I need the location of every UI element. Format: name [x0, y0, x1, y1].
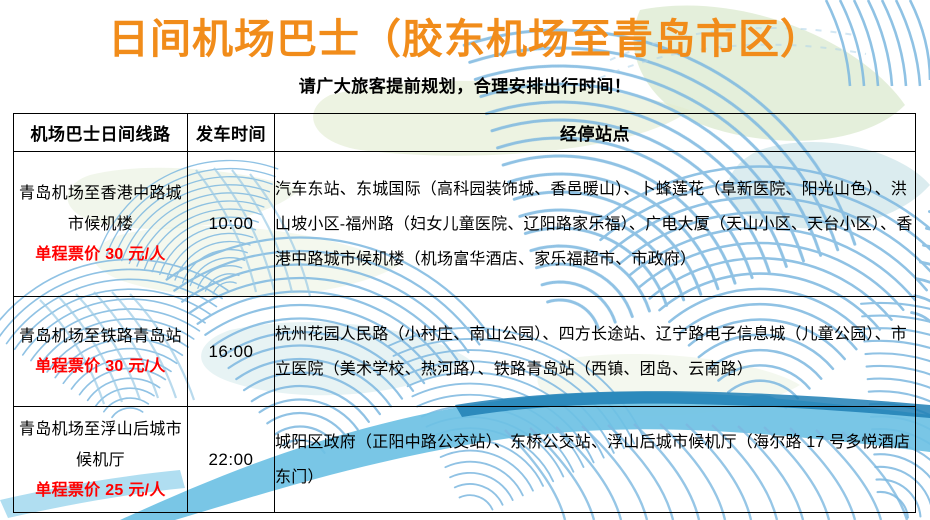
bus-schedule-table: 机场巴士日间线路 发车时间 经停站点 青岛机场至香港中路城市候机楼 单程票价 3…	[13, 113, 916, 513]
departure-time: 22:00	[188, 407, 275, 513]
page-title: 日间机场巴士（胶东机场至青岛市区）	[0, 0, 930, 65]
stops-list: 汽车东站、东城国际（高科园装饰城、香邑暖山）、卜蜂莲花（阜新医院、阳光山色）、洪…	[275, 152, 916, 297]
bus-schedule-table-container: 机场巴士日间线路 发车时间 经停站点 青岛机场至香港中路城市候机楼 单程票价 3…	[13, 113, 915, 513]
column-header-departure-time: 发车时间	[188, 114, 275, 152]
departure-time: 10:00	[188, 152, 275, 297]
page-subtitle: 请广大旅客提前规划，合理安排出行时间！	[0, 65, 930, 98]
table-header-row: 机场巴士日间线路 发车时间 经停站点	[14, 114, 916, 152]
route-price: 单程票价 30 元/人	[14, 240, 187, 270]
route-cell: 青岛机场至香港中路城市候机楼 单程票价 30 元/人	[14, 152, 188, 297]
route-name: 青岛机场至香港中路城市候机楼	[14, 178, 187, 240]
table-row: 青岛机场至香港中路城市候机楼 单程票价 30 元/人 10:00 汽车东站、东城…	[14, 152, 916, 297]
route-cell: 青岛机场至浮山后城市候机厅 单程票价 25 元/人	[14, 407, 188, 513]
poster-header: 日间机场巴士（胶东机场至青岛市区） 请广大旅客提前规划，合理安排出行时间！	[0, 0, 930, 98]
route-cell: 青岛机场至铁路青岛站 单程票价 30 元/人	[14, 297, 188, 407]
table-row: 青岛机场至浮山后城市候机厅 单程票价 25 元/人 22:00 城阳区政府（正阳…	[14, 407, 916, 513]
route-name: 青岛机场至铁路青岛站	[14, 321, 187, 352]
table-row: 青岛机场至铁路青岛站 单程票价 30 元/人 16:00 杭州花园人民路（小村庄…	[14, 297, 916, 407]
column-header-route: 机场巴士日间线路	[14, 114, 188, 152]
column-header-stops: 经停站点	[275, 114, 916, 152]
departure-time: 16:00	[188, 297, 275, 407]
stops-list: 城阳区政府（正阳中路公交站）、东桥公交站、浮山后城市候机厅（海尔路 17 号多悦…	[275, 407, 916, 513]
route-price: 单程票价 25 元/人	[14, 476, 187, 506]
route-price: 单程票价 30 元/人	[14, 352, 187, 382]
poster-page: 日间机场巴士（胶东机场至青岛市区） 请广大旅客提前规划，合理安排出行时间！ 机场…	[0, 0, 930, 520]
route-name: 青岛机场至浮山后城市候机厅	[14, 414, 187, 476]
stops-list: 杭州花园人民路（小村庄、南山公园）、四方长途站、辽宁路电子信息城（儿童公园）、市…	[275, 297, 916, 407]
